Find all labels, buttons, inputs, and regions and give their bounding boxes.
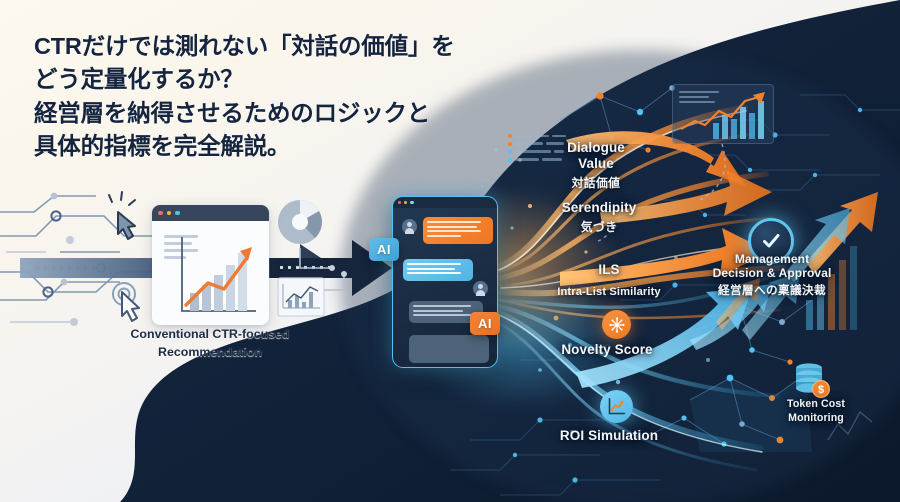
metric-ils: ILS Intra-List Similarity (534, 262, 684, 299)
dashboard-chart-card (672, 84, 774, 144)
title-line-1: CTRだけでは測れない「対話の価値」を (34, 30, 464, 63)
metric-label-en: Serendipity (534, 200, 664, 216)
metric-label-jp: 対話価値 (536, 174, 656, 191)
metric-label-en: Novelty Score (534, 342, 680, 358)
title-line-3: 経営層を納得させるためのロジックと (34, 97, 464, 130)
caption-line-1: Conventional CTR-focused (110, 326, 310, 344)
token-line-1: Token Cost (772, 398, 860, 412)
device-titlebar (393, 197, 497, 208)
metric-dialogue-value: Dialogue Value 対話価値 (536, 140, 656, 191)
browser-content (152, 221, 269, 325)
ai-badge-left: AI (369, 238, 399, 261)
metric-serendipity: Serendipity 気づき (534, 200, 664, 235)
browser-dot-yellow (167, 211, 172, 216)
management-decision-label: Management Decision & Approval 経営層への稟議決裁 (686, 252, 858, 298)
metric-label-jp: 気づき (534, 218, 664, 235)
ai-chat-device (392, 196, 498, 368)
title-line-2: どう定量化するか？ (34, 63, 464, 96)
page-title: CTRだけでは測れない「対話の価値」を どう定量化するか？ 経営層を納得させるた… (34, 30, 464, 163)
title-line-4: 具体的指標を完全解説。 (34, 130, 464, 163)
device-dot-red (398, 201, 401, 204)
metric-label-sub: Intra-List Similarity (534, 286, 684, 299)
metric-label-en: ROI Simulation (534, 428, 684, 444)
metric-novelty-score: Novelty Score (534, 342, 680, 358)
metric-label-en: Dialogue (536, 140, 656, 156)
list-item (508, 134, 570, 138)
currency-symbol: $ (818, 384, 824, 396)
caption-line-2: Recommendation (110, 344, 310, 362)
outcome-line-2: Decision & Approval (686, 266, 858, 280)
browser-window-icon (152, 205, 269, 325)
outcome-line-1: Management (686, 252, 858, 266)
metric-roi-simulation: ROI Simulation (534, 428, 684, 444)
network-node-icon (602, 310, 631, 339)
device-dot-blue (410, 201, 413, 204)
token-cost-label: Token Cost Monitoring (772, 398, 860, 425)
metric-label-en2: Value (536, 156, 656, 172)
avatar-2 (473, 281, 488, 296)
metric-label-en: ILS (534, 262, 684, 278)
chat-bubble-blue (403, 259, 473, 281)
growth-chart (152, 221, 269, 325)
browser-titlebar (152, 205, 269, 221)
token-line-2: Monitoring (772, 412, 860, 426)
conventional-ctr-caption: Conventional CTR-focused Recommendation (110, 326, 310, 361)
hero-banner: CTRだけでは測れない「対話の価値」を どう定量化するか？ 経営層を納得させるた… (0, 0, 900, 502)
ai-badge-right: AI (470, 312, 500, 335)
avatar (402, 219, 417, 234)
chat-bubble-grey-2 (409, 335, 489, 363)
outcome-jp: 経営層への稟議決裁 (686, 282, 858, 298)
chat-bubble-orange (423, 217, 493, 244)
browser-dot-red (158, 211, 163, 216)
dashboard-bars (673, 85, 773, 143)
device-dot-yellow (404, 201, 407, 204)
database-coin-icon: $ (790, 362, 834, 398)
trend-chart-icon (600, 390, 633, 423)
browser-dot-teal (175, 211, 180, 216)
